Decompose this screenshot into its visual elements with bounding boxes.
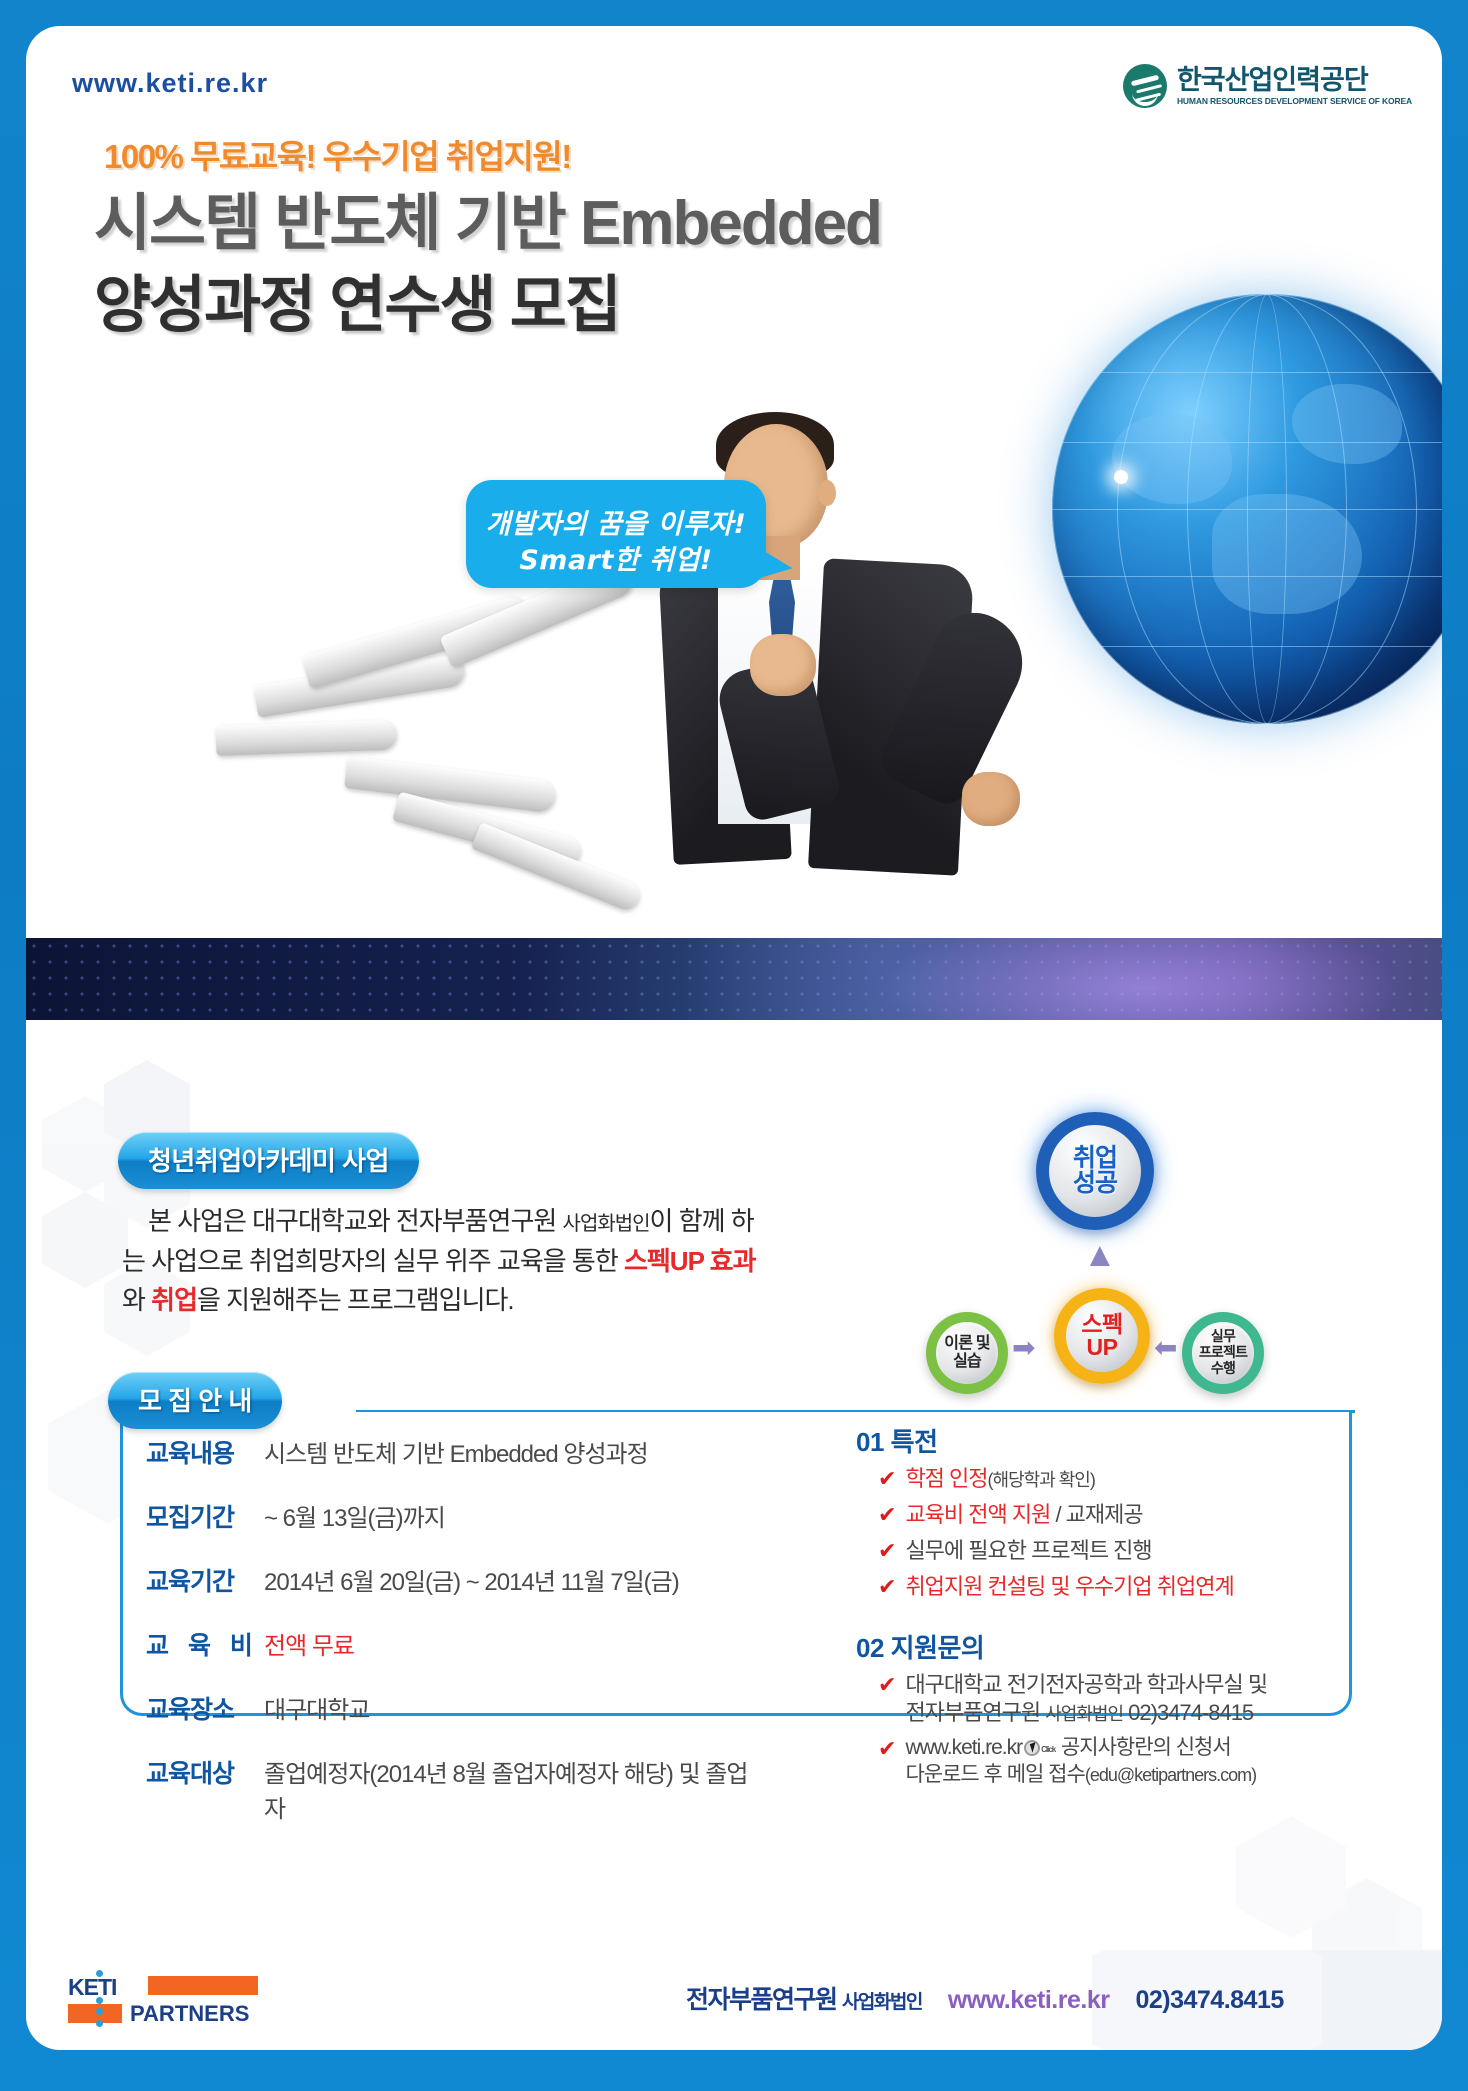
benefit-gray-1: / 교재제공	[1050, 1502, 1142, 1527]
footer-org-suffix: 사업화법인	[842, 1992, 922, 2013]
row-label: 교육기간	[146, 1562, 264, 1598]
table-row: 교육기간 2014년 6월 20일(금) ~ 2014년 11월 7일(금)	[146, 1562, 766, 1598]
benefits-and-contact-column: 01 특전 ✔ 학점 인정(해당학과 확인) ✔ 교육비 전액 지원 / 교재제…	[856, 1422, 1326, 1797]
intro-text-a: 본 사업은 대구대학교와 전자부품연구원	[148, 1206, 563, 1236]
row-label: 교육장소	[146, 1690, 264, 1726]
row-value: 대구대학교	[264, 1690, 369, 1725]
table-row: 교육대상 졸업예정자(2014년 8월 졸업자예정자 해당) 및 졸업자	[146, 1754, 766, 1824]
check-icon: ✔	[878, 1465, 895, 1493]
check-icon: ✔	[878, 1671, 895, 1699]
hero-panel: www.keti.re.kr 한국산업인력공단 HUMAN RESOURCES …	[26, 26, 1442, 938]
hero-title-line1: 시스템 반도체 기반 Embedded	[94, 172, 881, 262]
arrow-left-icon: ⬅	[1154, 1334, 1177, 1362]
arrow-up-icon: ▲	[1083, 1238, 1117, 1272]
row-value: 2014년 6월 20일(금) ~ 2014년 11월 7일(금)	[264, 1562, 679, 1597]
list-item: ✔ 실무에 필요한 프로젝트 진행	[878, 1537, 1326, 1565]
list-item: ✔ 교육비 전액 지원 / 교재제공	[878, 1501, 1326, 1529]
contact-line-2b: 사업화법인	[1045, 1704, 1123, 1724]
arrow-right-icon: ➡	[1012, 1334, 1035, 1362]
row-value: ~ 6월 13일(금)까지	[264, 1498, 445, 1533]
partners-logo-text: PARTNERS	[130, 2001, 249, 2027]
contact-line-1: 대구대학교 전기전자공학과 학과사무실 및	[905, 1672, 1267, 1697]
intro-text-e: 와	[122, 1285, 151, 1315]
poster-root: www.keti.re.kr 한국산업인력공단 HUMAN RESOURCES …	[0, 0, 1468, 2091]
table-row: 교육내용 시스템 반도체 기반 Embedded 양성과정	[146, 1434, 766, 1470]
check-icon: ✔	[878, 1501, 895, 1529]
row-label: 교육대상	[146, 1754, 264, 1790]
keti-partners-logo: KETI PARTNERS	[62, 1970, 262, 2030]
hrd-korea-logo: 한국산업인력공단 HUMAN RESOURCES DEVELOPMENT SER…	[1123, 64, 1412, 108]
intro-text-f: 취업	[151, 1285, 197, 1315]
contact-phone[interactable]: 02)3474-8415	[1123, 1700, 1253, 1725]
row-value: 전액 무료	[264, 1626, 354, 1661]
click-cursor-icon: Click	[1024, 1741, 1054, 1757]
speech-bubble-line2: Smart한 취업!	[466, 538, 766, 577]
diagram-spec-line2: UP	[1081, 1336, 1122, 1359]
footer-contact-info: 전자부품연구원 사업화법인 www.keti.re.kr 02)3474.841…	[686, 1980, 1284, 2016]
recruit-badge-wrap: 모 집 안 내	[108, 1372, 282, 1429]
hrd-emblem-icon	[1123, 64, 1167, 108]
footer-tel[interactable]: 02)3474.8415	[1135, 1986, 1283, 2015]
diagram-project-line2: 프로젝트	[1199, 1345, 1247, 1361]
benefit-red-1: 교육비 전액 지원	[905, 1502, 1050, 1527]
diagram-node-spec-up: 스펙UP	[1054, 1288, 1150, 1384]
list-item: ✔ www.keti.re.krClick 공지사항란의 신청서 다운로드 후 …	[878, 1735, 1326, 1789]
footer-url[interactable]: www.keti.re.kr	[948, 1986, 1110, 2015]
content-panel: 청년취업아카데미 사업 본 사업은 대구대학교와 전자부품연구원 사업화법인이 …	[26, 1020, 1442, 2020]
hrd-logo-en: HUMAN RESOURCES DEVELOPMENT SERVICE OF K…	[1177, 96, 1412, 106]
recruit-detail-list: 교육내용 시스템 반도체 기반 Embedded 양성과정 모집기간 ~ 6월 …	[146, 1434, 766, 1852]
diagram-spec-line1: 스펙	[1081, 1313, 1122, 1336]
row-value: 졸업예정자(2014년 8월 졸업자예정자 해당) 및 졸업자	[264, 1754, 766, 1824]
diagram-success-line2: 성공	[1073, 1171, 1117, 1196]
contact-website-link[interactable]: www.keti.re.kr	[905, 1736, 1022, 1759]
businessman-photo	[666, 396, 1086, 938]
list-item: ✔ 대구대학교 전기전자공학과 학과사무실 및 전자부품연구원 사업화법인 02…	[878, 1671, 1326, 1727]
table-row: 교육장소 대구대학교	[146, 1690, 766, 1726]
diagram-theory-line2: 실습	[944, 1353, 989, 1371]
contact-heading: 02 지원문의	[856, 1628, 1326, 1665]
row-label: 교육내용	[146, 1434, 264, 1470]
check-icon: ✔	[878, 1537, 895, 1565]
intro-text-b: 사업화법인	[563, 1213, 650, 1235]
table-row: 교 육 비 전액 무료	[146, 1626, 766, 1662]
hrd-logo-kr: 한국산업인력공단	[1177, 66, 1412, 94]
check-icon: ✔	[878, 1573, 895, 1601]
intro-text-g: 을 지원해주는 프로그램입니다.	[197, 1285, 514, 1315]
click-label: Click	[1041, 1745, 1055, 1755]
diagram-node-project: 실무프로젝트수행	[1182, 1312, 1264, 1394]
process-diagram: 취업성공 ▲ 스펙UP 이론 및실습 실무프로젝트수행 ➡ ⬅	[926, 1112, 1306, 1412]
contact-notice-text: 공지사항란의 신청서	[1061, 1736, 1231, 1759]
paper-fan-graphic	[196, 626, 716, 866]
recruit-badge: 모 집 안 내	[108, 1372, 282, 1429]
diagram-node-theory: 이론 및실습	[926, 1312, 1008, 1394]
footer-panel: KETI PARTNERS 전자부품연구원 사업화법인 www.keti.re.…	[26, 1950, 1442, 2050]
table-row: 모집기간 ~ 6월 13일(금)까지	[146, 1498, 766, 1534]
list-item: ✔ 학점 인정(해당학과 확인)	[878, 1465, 1326, 1493]
diagram-success-line1: 취업	[1073, 1146, 1117, 1171]
globe-graphic	[1052, 294, 1442, 724]
diagram-theory-line1: 이론 및	[944, 1335, 989, 1353]
speech-bubble-line1: 개발자의 꿈을 이루자!	[466, 502, 766, 541]
hero-tagline: 100% 무료교육! 우수기업 취업지원!	[104, 130, 571, 178]
benefit-red-0: 학점 인정	[905, 1466, 987, 1491]
contact-line-2a: 전자부품연구원	[905, 1700, 1045, 1725]
benefit-gray-2: 실무에 필요한 프로젝트 진행	[905, 1538, 1151, 1563]
benefit-gray-0: (해당학과 확인)	[988, 1470, 1095, 1490]
row-label: 모집기간	[146, 1498, 264, 1534]
check-icon: ✔	[878, 1735, 895, 1763]
diagram-project-line1: 실무	[1199, 1329, 1247, 1345]
speech-bubble: 개발자의 꿈을 이루자! Smart한 취업!	[466, 480, 766, 588]
hero-title-line2: 양성과정 연수생 모집	[94, 254, 620, 344]
contact-email[interactable]: (edu@ketipartners.com)	[1085, 1765, 1256, 1785]
decorative-dark-strip	[26, 938, 1442, 1020]
benefit-red-3: 취업지원 컨설팅 및 우수기업 취업연계	[905, 1574, 1233, 1599]
intro-badge: 청년취업아카데미 사업	[118, 1132, 419, 1189]
row-value: 시스템 반도체 기반 Embedded 양성과정	[264, 1434, 648, 1469]
diagram-project-line3: 수행	[1199, 1361, 1247, 1377]
diagram-node-success: 취업성공	[1036, 1112, 1154, 1230]
intro-section-badge-wrap: 청년취업아카데미 사업	[118, 1132, 419, 1189]
benefits-heading: 01 특전	[856, 1422, 1326, 1459]
footer-org: 전자부품연구원 사업화법인	[686, 1980, 922, 2016]
row-label: 교 육 비	[146, 1626, 264, 1662]
footer-org-name: 전자부품연구원	[686, 1986, 842, 2014]
site-url-text: www.keti.re.kr	[72, 68, 268, 99]
contact-download-text: 다운로드 후 메일 접수	[905, 1763, 1084, 1786]
keti-logo-text: KETI	[68, 1974, 116, 2001]
intro-paragraph: 본 사업은 대구대학교와 전자부품연구원 사업화법인이 함께 하는 사업으로 취…	[122, 1202, 762, 1321]
intro-text-d: 스펙UP 효과	[624, 1246, 756, 1276]
list-item: ✔ 취업지원 컨설팅 및 우수기업 취업연계	[878, 1573, 1326, 1601]
